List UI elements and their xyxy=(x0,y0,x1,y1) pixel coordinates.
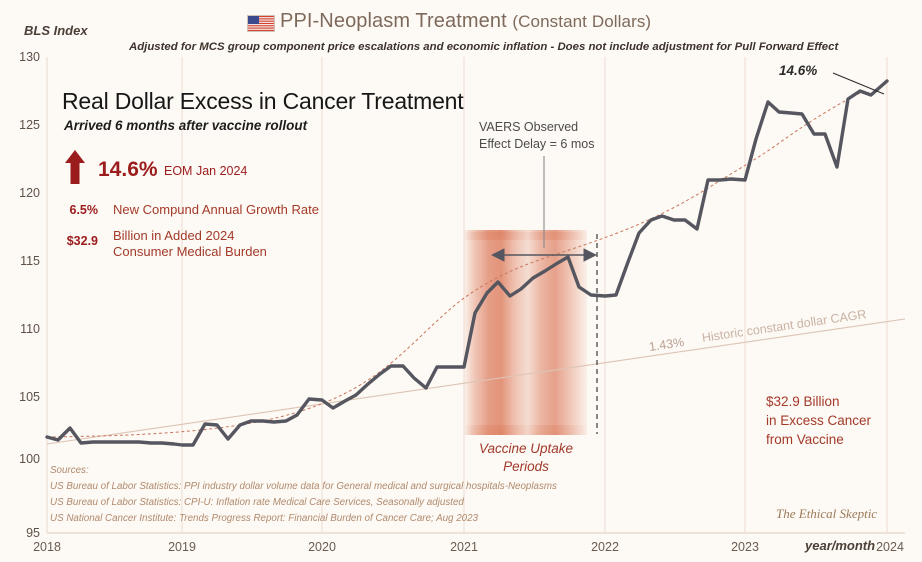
stat-label-burden-line2: Consumer Medical Burden xyxy=(113,244,267,260)
y-tick-120: 120 xyxy=(6,186,40,200)
y-tick-125: 125 xyxy=(6,118,40,132)
author-signature: The Ethical Skeptic xyxy=(776,506,877,522)
x-tick-2022: 2022 xyxy=(585,540,625,554)
stat-label-burden-line1: Billion in Added 2024 xyxy=(113,228,234,244)
chart-title-main: PPI-Neoplasm Treatment xyxy=(280,10,507,32)
sources-line-2: US Bureau of Labor Statistics: CPI-U: In… xyxy=(50,496,464,510)
y-tick-110: 110 xyxy=(6,322,40,336)
x-tick-2019: 2019 xyxy=(162,540,202,554)
x-tick-2023: 2023 xyxy=(725,540,765,554)
y-tick-105: 105 xyxy=(6,390,40,404)
chart-title: PPI-Neoplasm Treatment (Constant Dollars… xyxy=(280,10,651,33)
chart-subtitle: Adjusted for MCS group component price e… xyxy=(129,41,838,53)
callout-big-percent-note: EOM Jan 2024 xyxy=(164,164,247,178)
stat-value-burden: $32.9 xyxy=(46,234,98,248)
new-cagr-dotted-fit xyxy=(47,92,862,437)
y-tick-95: 95 xyxy=(6,526,40,540)
x-axis-title: year/month xyxy=(805,538,875,553)
callout-headline: Real Dollar Excess in Cancer Treatment xyxy=(62,88,463,115)
y-tick-100: 100 xyxy=(6,452,40,466)
vaers-annotation-line2: Effect Delay = 6 mos xyxy=(479,136,594,153)
sources-heading: Sources: xyxy=(50,464,89,478)
stat-label-cagr: New Compund Annual Growth Rate xyxy=(113,202,319,218)
excess-cancer-note-line1: $32.9 Billion xyxy=(766,392,840,411)
callout-subhead: Arrived 6 months after vaccine rollout xyxy=(64,118,307,133)
y-tick-130: 130 xyxy=(6,50,40,64)
x-tick-2024: 2024 xyxy=(870,540,910,554)
stat-value-cagr: 6.5% xyxy=(50,203,98,217)
excess-cancer-note-line2: in Excess Cancer xyxy=(766,411,871,430)
end-value-percent: 14.6% xyxy=(779,63,817,78)
chart-title-paren: (Constant Dollars) xyxy=(512,12,651,31)
callout-big-percent: 14.6% xyxy=(98,158,158,182)
excess-cancer-note-line3: from Vaccine xyxy=(766,430,844,449)
y-axis-title: BLS Index xyxy=(24,23,88,38)
sources-line-1: US Bureau of Labor Statistics: PPI indus… xyxy=(50,480,557,494)
vaccine-uptake-label-line1: Vaccine Uptake xyxy=(460,440,592,458)
sources-line-3: US National Cancer Institute: Trends Pro… xyxy=(50,512,478,526)
vaccine-uptake-label-line2: Periods xyxy=(460,458,592,476)
us-flag-icon xyxy=(247,15,275,32)
vaers-annotation-line1: VAERS Observed xyxy=(479,119,578,136)
up-arrow-icon xyxy=(64,150,86,184)
x-tick-2021: 2021 xyxy=(444,540,484,554)
y-tick-115: 115 xyxy=(6,254,40,268)
x-tick-2020: 2020 xyxy=(302,540,342,554)
chart-canvas xyxy=(0,0,922,562)
x-tick-2018: 2018 xyxy=(27,540,67,554)
